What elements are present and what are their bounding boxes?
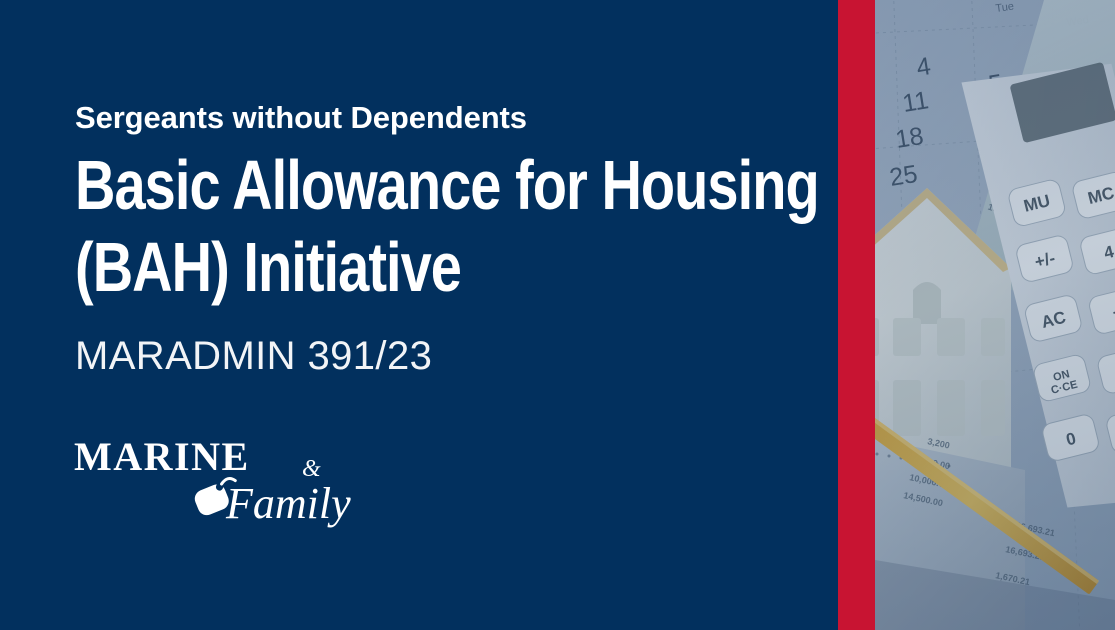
svg-text:25: 25	[888, 160, 920, 192]
red-accent-stripe	[838, 0, 875, 630]
eyebrow-text: Sergeants without Dependents	[75, 98, 815, 138]
svg-text:11: 11	[901, 86, 931, 118]
logo-script-family: Family	[225, 479, 351, 528]
svg-text:Tue: Tue	[995, 1, 1015, 15]
bah-initiative-banner: Tue Wed 4 5 11 12 18 25 11/06/15	[0, 0, 1115, 630]
headline-line-2: (BAH) Initiative	[75, 226, 815, 308]
maradmin-reference: MARADMIN 391/23	[75, 332, 815, 380]
housing-photo-illustration: Tue Wed 4 5 11 12 18 25 11/06/15	[875, 0, 1115, 630]
page-title: Basic Allowance for Housing (BAH) Initia…	[75, 144, 815, 308]
housing-photo: Tue Wed 4 5 11 12 18 25 11/06/15	[875, 0, 1115, 630]
banner-text-block: Sergeants without Dependents Basic Allow…	[75, 98, 815, 380]
svg-text:18: 18	[894, 122, 926, 154]
logo-wordmark-marine: MARINE	[74, 438, 250, 479]
marine-and-family-logo-art: MARINE & Family	[74, 438, 404, 528]
headline-line-1: Basic Allowance for Housing	[75, 144, 815, 226]
marine-and-family-logo: MARINE & Family	[74, 438, 404, 528]
